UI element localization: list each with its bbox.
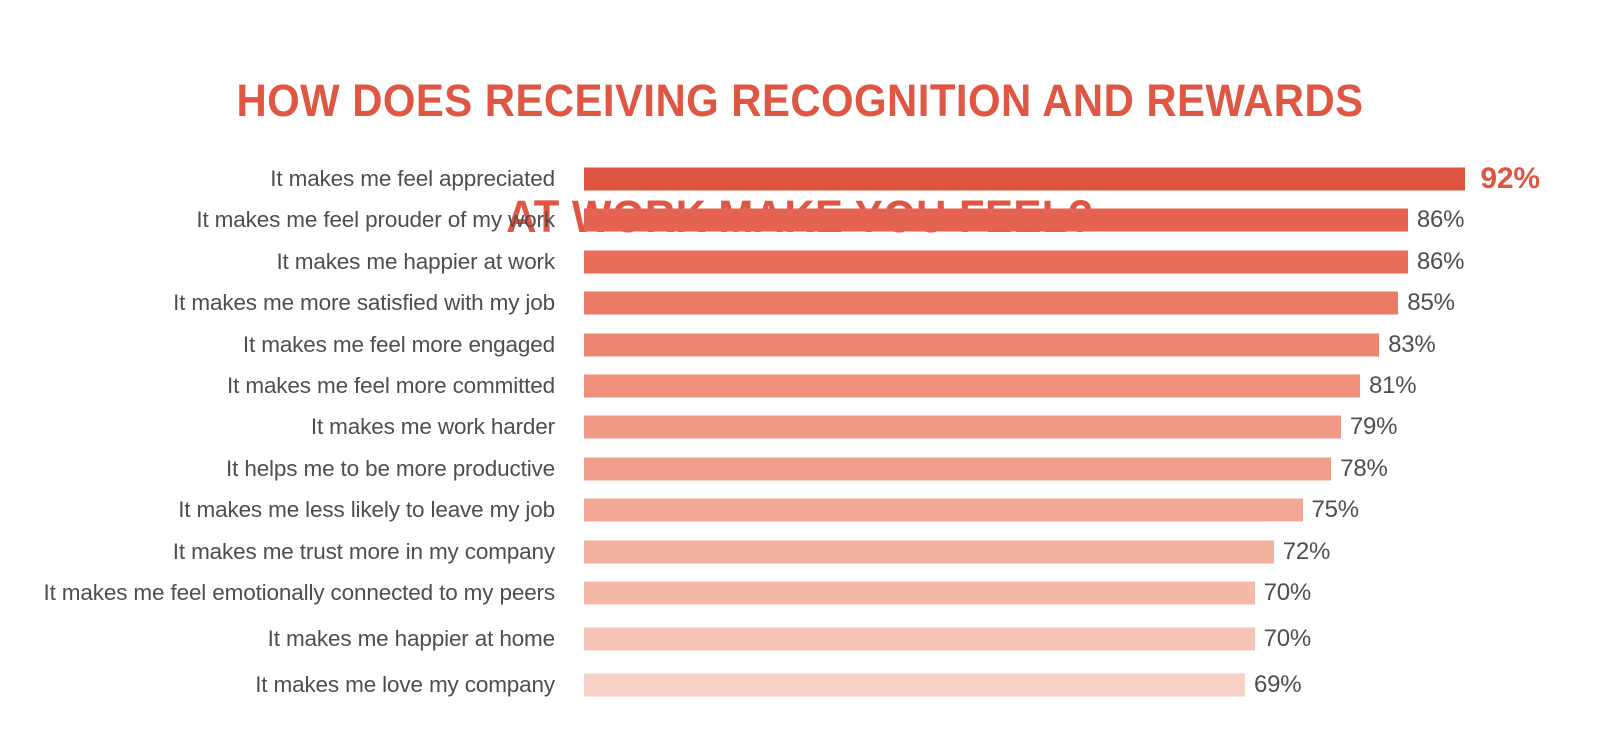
bar-fill [584,209,1408,232]
bar-value-label: 72% [1283,539,1330,565]
bar-category-label: It helps me to be more productive [226,456,555,482]
bar-category-label: It makes me love my company [255,672,555,698]
bar-fill [584,416,1341,439]
bar [584,375,1360,398]
bar-category-label: It makes me feel appreciated [270,166,555,192]
bar-row: It makes me trust more in my company72% [0,539,1600,565]
bar-row: It makes me more satisfied with my job85… [0,290,1600,316]
bar-value-label: 86% [1417,249,1464,275]
bar-value-label: 86% [1417,207,1464,233]
infographic-canvas: HOW DOES RECEIVING RECOGNITION AND REWAR… [0,0,1600,752]
bar-category-label: It makes me feel emotionally connected t… [44,580,556,606]
bar-row: It makes me feel more committed81% [0,373,1600,399]
bar-row: It makes me feel prouder of my work86% [0,207,1600,233]
bar-value-label: 70% [1264,580,1311,606]
bar-fill [584,375,1360,398]
bar-value-label: 79% [1350,414,1397,440]
bar-category-label: It makes me feel prouder of my work [196,207,555,233]
bar-fill [584,250,1408,273]
bar-row: It makes me feel appreciated92% [0,166,1600,192]
bar-value-label: 81% [1369,373,1416,399]
bar-fill [584,333,1379,356]
bar-fill [584,582,1255,605]
bar-value-label: 75% [1312,497,1359,523]
bar-category-label: It makes me happier at work [276,249,555,275]
bar-fill [584,292,1398,315]
bar [584,292,1398,315]
bar-row: It makes me feel more engaged83% [0,332,1600,358]
bar [584,457,1331,480]
bar-row: It helps me to be more productive78% [0,456,1600,482]
bar-fill [584,499,1303,522]
bar [584,627,1255,650]
bar-category-label: It makes me happier at home [268,626,555,652]
bar-category-label: It makes me feel more committed [227,373,555,399]
bar [584,540,1274,563]
bar-row: It makes me happier at work86% [0,249,1600,275]
bar-chart-plot: It makes me feel appreciated92%It makes … [0,155,1600,715]
bar-row: It makes me feel emotionally connected t… [0,580,1600,606]
bar [584,673,1245,696]
bar [584,209,1408,232]
bar-fill [584,457,1331,480]
bar-fill [584,168,1465,191]
bar [584,416,1341,439]
bar [584,250,1408,273]
bar-category-label: It makes me work harder [311,414,555,440]
bar [584,168,1465,191]
bar [584,582,1255,605]
bar-category-label: It makes me more satisfied with my job [173,290,555,316]
bar-fill [584,673,1245,696]
bar-category-label: It makes me feel more engaged [243,332,555,358]
bar [584,333,1379,356]
bar-row: It makes me love my company69% [0,672,1600,698]
bar-row: It makes me happier at home70% [0,626,1600,652]
bar-value-label: 92% [1480,166,1539,192]
page-title-line-1: HOW DOES RECEIVING RECOGNITION AND REWAR… [56,72,1544,130]
bar [584,499,1303,522]
bar-category-label: It makes me trust more in my company [173,539,555,565]
bar-value-label: 69% [1254,672,1301,698]
bar-value-label: 78% [1340,456,1387,482]
bar-value-label: 70% [1264,626,1311,652]
bar-value-label: 85% [1407,290,1454,316]
bar-fill [584,540,1274,563]
bar-row: It makes me less likely to leave my job7… [0,497,1600,523]
bar-row: It makes me work harder79% [0,414,1600,440]
bar-value-label: 83% [1388,332,1435,358]
bar-category-label: It makes me less likely to leave my job [178,497,555,523]
bar-fill [584,627,1255,650]
